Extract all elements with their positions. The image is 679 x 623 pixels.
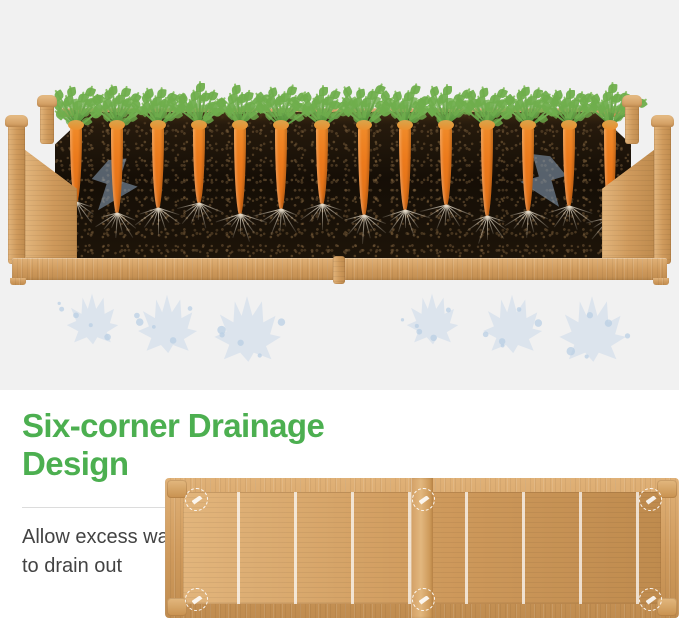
planter-corner-post-left [8, 124, 25, 264]
water-droplet-icon [517, 307, 522, 312]
water-droplet-icon [258, 353, 262, 357]
water-droplet-icon [416, 329, 422, 335]
carrot-root [193, 126, 205, 205]
feature-headline: Six-corner DrainageDesign [22, 407, 402, 484]
water-droplet-icon [136, 318, 144, 326]
water-splash-icon [406, 294, 458, 345]
raised-bed-planter-illustration [0, 0, 679, 300]
carrot-rootlets [260, 209, 302, 249]
water-droplet-icon [89, 323, 93, 327]
planter-inner-post-right [625, 104, 639, 144]
drainage-hole-nub-icon [646, 596, 657, 605]
drainage-hole-nub-icon [192, 496, 203, 505]
carrot-root [481, 126, 493, 218]
drainage-hole-nub-icon [419, 496, 430, 505]
drainage-hole-nub-icon [192, 596, 203, 605]
water-droplet-icon [587, 312, 593, 318]
planter-center-joint-post [333, 256, 345, 284]
water-splash-icon [482, 295, 542, 353]
water-droplet-icon [446, 308, 451, 313]
top-panel-cutaway-scene [0, 0, 679, 390]
carrot-root [440, 126, 452, 207]
draining-water-splashes [0, 282, 679, 378]
water-droplet-icon [605, 319, 612, 326]
water-splash-icon [66, 294, 118, 345]
drainage-hole-nub-icon [646, 496, 657, 505]
post-cap [5, 115, 28, 127]
carrot-root [111, 126, 123, 215]
carrot-root [563, 126, 575, 208]
water-droplet-icon [59, 307, 64, 312]
water-droplet-icon [237, 340, 243, 346]
carrot-root [275, 126, 287, 211]
carrot-rootlets [548, 206, 590, 246]
carrot-rootlets [219, 214, 261, 254]
drainage-hole-marker-icon [412, 588, 435, 611]
water-droplet-icon [567, 347, 575, 355]
water-droplet-icon [401, 318, 404, 321]
water-droplet-icon [219, 332, 224, 337]
carrot-rootlets [137, 208, 179, 248]
carrot-rootlets [384, 210, 426, 250]
headline-line-2: Design [22, 445, 128, 482]
water-droplet-icon [483, 332, 489, 338]
carrot-root [316, 126, 328, 206]
post-cap [37, 95, 57, 107]
drainage-hole-marker-icon [412, 488, 435, 511]
water-splash-icon [558, 296, 626, 362]
planter-inner-post-left [40, 104, 54, 144]
post-cap [622, 95, 642, 107]
carrot-rootlets [301, 204, 343, 244]
water-droplet-icon [501, 344, 505, 348]
planter-corner-post-right [654, 124, 671, 264]
drainage-hole-marker-icon [185, 488, 208, 511]
carrot-root [358, 126, 370, 217]
carrot-rootlets [507, 211, 549, 251]
carrot-rootlets [178, 203, 220, 243]
product-feature-image: Six-corner DrainageDesign Allow excess w… [0, 0, 679, 623]
base-corner-block [167, 598, 187, 616]
bottom-panel-feature-copy: Six-corner DrainageDesign Allow excess w… [0, 390, 679, 623]
water-droplet-icon [625, 333, 630, 338]
carrot-rootlets [96, 213, 138, 253]
drainage-hole-marker-icon [639, 588, 662, 611]
splash-crown [482, 295, 542, 353]
drainage-hole-marker-icon [639, 488, 662, 511]
water-droplet-icon [278, 318, 285, 325]
carrot-root [522, 126, 534, 213]
water-droplet-icon [430, 335, 437, 342]
water-droplet-icon [104, 334, 111, 341]
water-droplet-icon [152, 325, 156, 329]
carrot-rootlets [425, 205, 467, 245]
splash-crown [137, 295, 197, 353]
carrot-row [55, 52, 631, 262]
water-droplet-icon [535, 319, 543, 327]
headline-line-1: Six-corner Drainage [22, 407, 324, 444]
water-droplet-icon [188, 306, 193, 311]
water-droplet-icon [415, 324, 419, 328]
water-splash-icon [137, 295, 197, 353]
carrot-root [152, 126, 164, 210]
carrot-rootlets [343, 215, 385, 255]
post-cap [651, 115, 674, 127]
water-droplet-icon [585, 354, 589, 358]
base-corner-block [167, 480, 187, 498]
feature-copy-block: Six-corner DrainageDesign [22, 407, 402, 484]
water-droplet-icon [170, 337, 177, 344]
drainage-hole-marker-icon [185, 588, 208, 611]
carrot-root [399, 126, 411, 212]
carrot-root [234, 126, 246, 216]
water-splash-icon [213, 296, 281, 362]
carrot-rootlets [466, 216, 508, 256]
drainage-hole-nub-icon [419, 596, 430, 605]
water-droplet-icon [58, 302, 61, 305]
water-droplet-icon [73, 312, 79, 318]
planter-base-underside-illustration [165, 478, 679, 618]
